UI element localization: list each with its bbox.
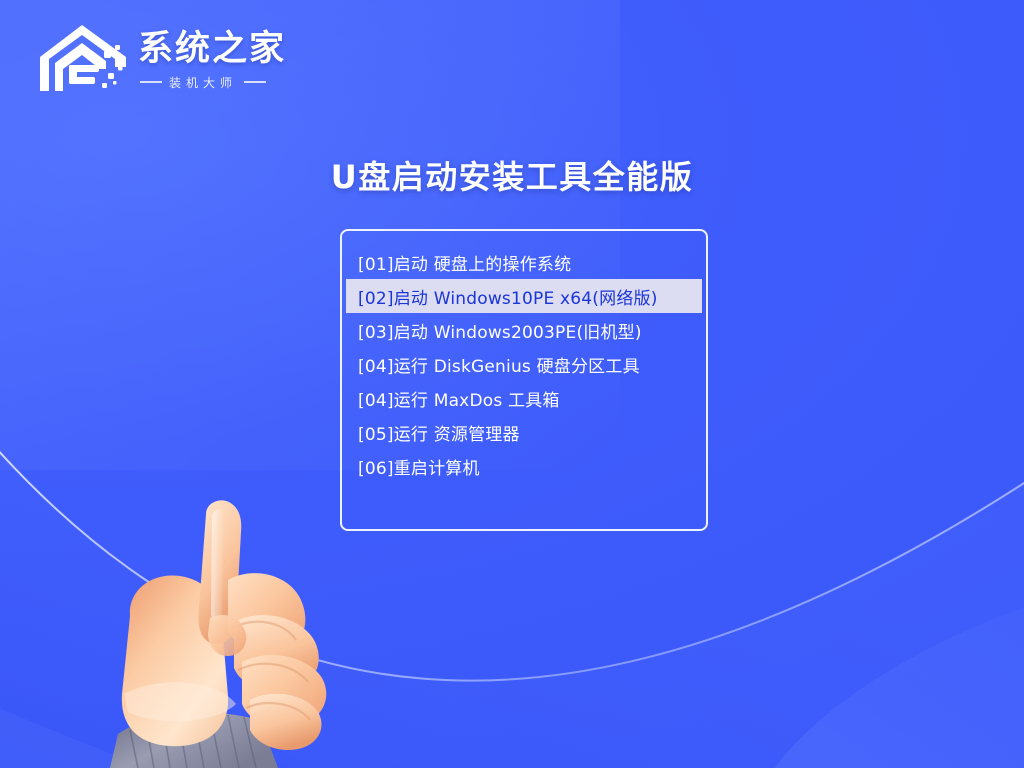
brand-tagline-row: 装机大师	[138, 74, 286, 91]
boot-menu-item-05[interactable]: [04]运行 MaxDos 工具箱	[346, 381, 702, 415]
tagline-rule-left	[140, 81, 162, 83]
page-title: U盘启动安装工具全能版	[0, 152, 1024, 198]
house-pixel-logo-icon	[36, 21, 128, 99]
boot-menu-item-04[interactable]: [04]运行 DiskGenius 硬盘分区工具	[346, 347, 702, 381]
boot-menu-item-03[interactable]: [03]启动 Windows2003PE(旧机型)	[346, 313, 702, 347]
tagline-rule-right	[244, 81, 266, 83]
boot-menu-item-07[interactable]: [06]重启计算机	[346, 449, 702, 483]
brand-wordmark: 系统之家	[138, 31, 286, 68]
boot-menu-item-06[interactable]: [05]运行 资源管理器	[346, 415, 702, 449]
boot-menu-item-02[interactable]: [02]启动 Windows10PE x64(网络版)	[346, 279, 702, 313]
brand-logo: 系统之家 装机大师	[36, 18, 286, 102]
brand-tagline: 装机大师	[169, 74, 237, 91]
boot-menu-panel: [01]启动 硬盘上的操作系统 [02]启动 Windows10PE x64(网…	[340, 229, 708, 531]
pointing-hand-illustration	[110, 498, 410, 768]
boot-menu-item-01[interactable]: [01]启动 硬盘上的操作系统	[346, 245, 702, 279]
